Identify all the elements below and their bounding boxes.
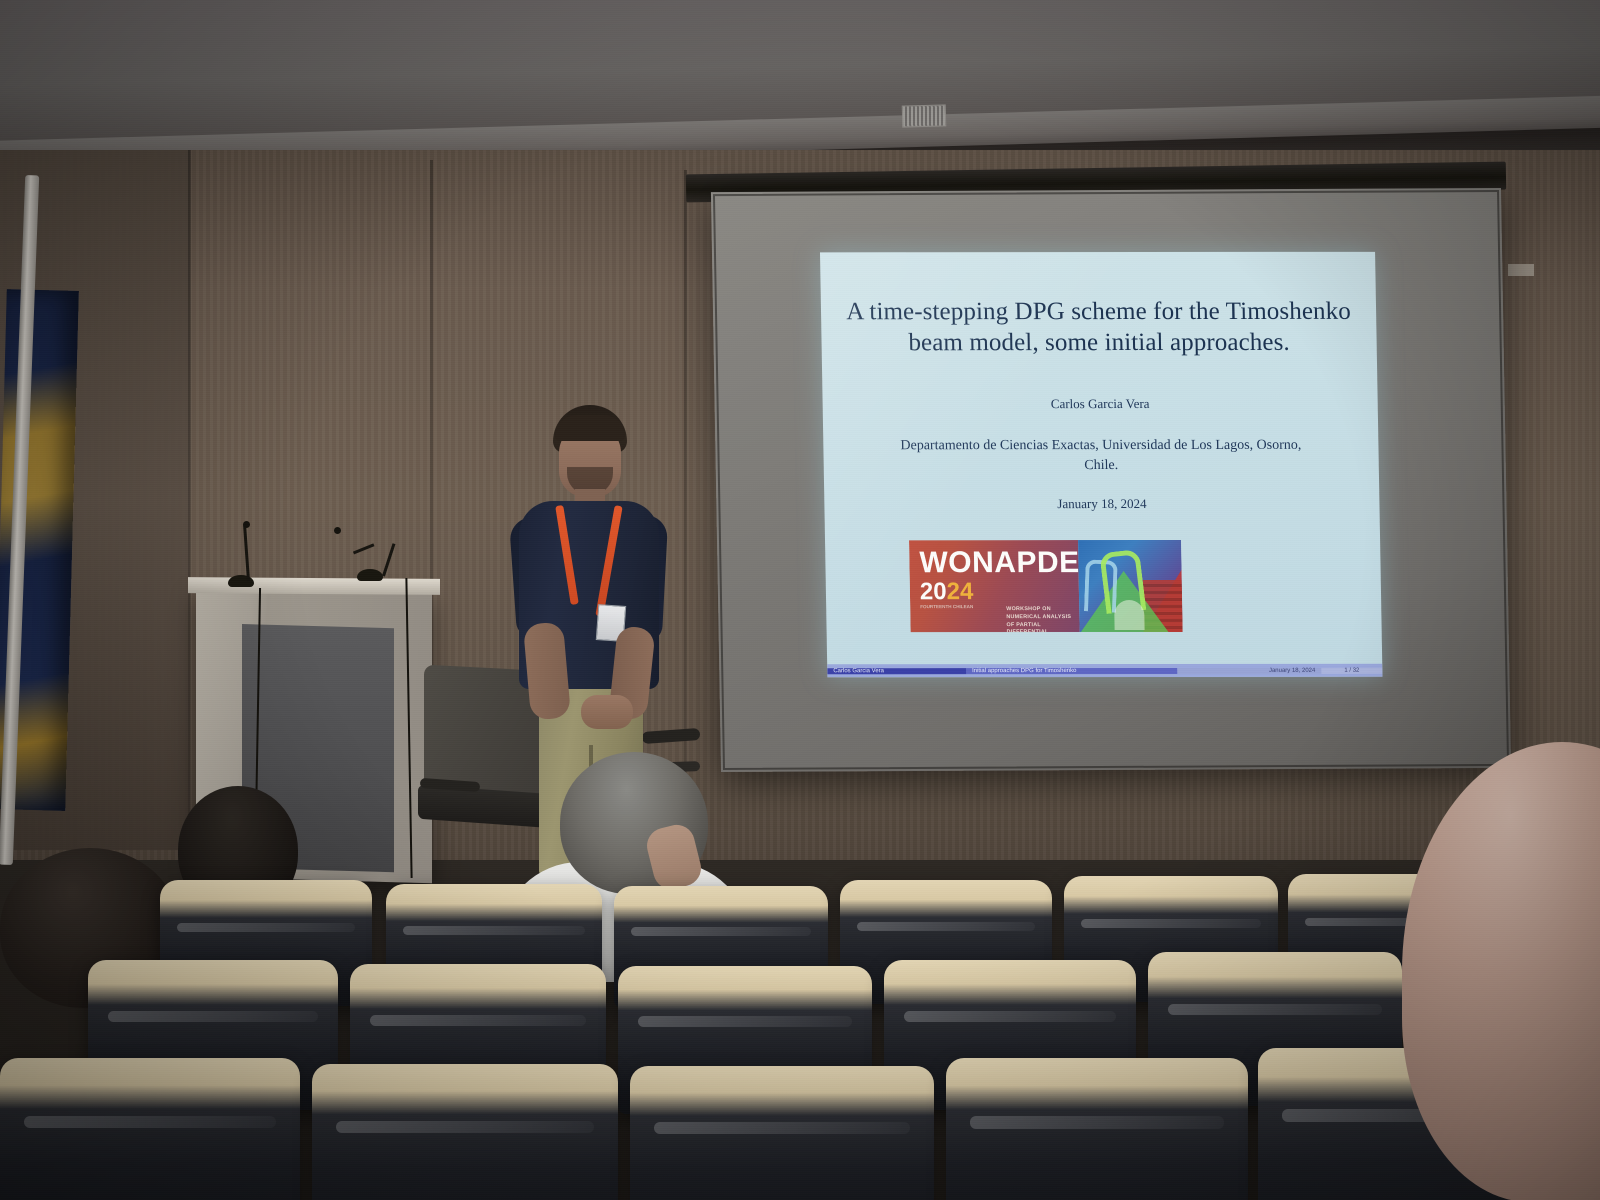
wonapde-logo: WONAPDE 2024 FOURTEENTH CHILEAN WORKSHOP… bbox=[909, 540, 1183, 632]
wonapde-subtitle-line2: OF PARTIAL DIFFERENTIAL EQUATIONS bbox=[1006, 622, 1073, 632]
microphone-base bbox=[357, 569, 383, 581]
wonapde-subtitle-line1: WORKSHOP ON NUMERICAL ANALYSIS bbox=[1006, 606, 1073, 622]
slide-footer-section: Initial approaches DPG for Timoshenko bbox=[966, 667, 1177, 673]
seat bbox=[312, 1064, 618, 1200]
speaker-hands bbox=[581, 695, 633, 729]
slide-footer: Carlos Garcia Vera Initial approaches DP… bbox=[827, 664, 1382, 677]
slide-footer-author: Carlos Garcia Vera bbox=[827, 668, 966, 674]
slide-title-line2: beam model, some initial approaches. bbox=[843, 327, 1355, 359]
slide-date: January 18, 2024 bbox=[846, 496, 1357, 512]
wonapde-year-suffix: 24 bbox=[946, 578, 973, 605]
wonapde-logo-year: 2024 bbox=[920, 578, 974, 606]
presentation-slide: A time-stepping DPG scheme for the Timos… bbox=[820, 252, 1382, 677]
wonapde-logo-subtitle: WORKSHOP ON NUMERICAL ANALYSIS OF PARTIA… bbox=[1006, 606, 1073, 632]
microphone-base bbox=[228, 575, 254, 587]
seat bbox=[946, 1058, 1248, 1200]
ceiling-vent-icon bbox=[902, 104, 947, 127]
slide-affiliation: Departamento de Ciencias Exactas, Univer… bbox=[837, 436, 1365, 476]
conference-room-photo: A time-stepping DPG scheme for the Timos… bbox=[0, 0, 1600, 1200]
seat bbox=[0, 1058, 300, 1200]
slide-footer-page: 1 / 32 bbox=[1321, 667, 1382, 673]
wonapde-logo-subtitle-small: FOURTEENTH CHILEAN bbox=[920, 604, 1016, 611]
wonapde-logo-wordmark: WONAPDE bbox=[919, 546, 1080, 580]
speaker-hairline bbox=[555, 415, 625, 441]
seat bbox=[630, 1066, 934, 1200]
wonapde-logo-left-panel: WONAPDE 2024 FOURTEENTH CHILEAN WORKSHOP… bbox=[909, 540, 1079, 632]
wonapde-logo-graphic bbox=[1078, 540, 1183, 632]
slide-affiliation-line2: Chile. bbox=[838, 455, 1365, 475]
slide-affiliation-line1: Departamento de Ciencias Exactas, Univer… bbox=[837, 436, 1364, 456]
wall-seam bbox=[188, 150, 191, 850]
microphone-head-icon bbox=[334, 527, 341, 534]
logo-dome bbox=[1114, 600, 1145, 630]
podium-top bbox=[188, 577, 440, 595]
slide-title-line1: A time-stepping DPG scheme for the Timos… bbox=[843, 296, 1355, 328]
speaker-arm-left bbox=[523, 621, 571, 720]
projection-screen: A time-stepping DPG scheme for the Timos… bbox=[711, 188, 1511, 772]
slide-author: Carlos Garcia Vera bbox=[844, 396, 1355, 412]
slide-title: A time-stepping DPG scheme for the Timos… bbox=[843, 296, 1355, 359]
wonapde-year-prefix: 20 bbox=[920, 578, 947, 605]
microphone-head-icon bbox=[243, 521, 250, 528]
slide-footer-date: January 18, 2024 bbox=[1177, 667, 1321, 673]
wall-sign bbox=[1508, 264, 1534, 276]
